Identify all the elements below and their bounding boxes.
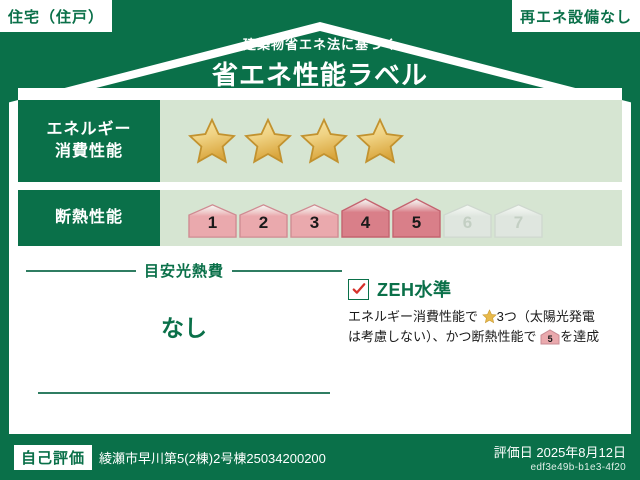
footer-right: 評価日 2025年8月12日 edf3e49b-b1e3-4f20: [494, 442, 626, 473]
energy-cost-heading-text: 目安光熱費: [144, 260, 224, 281]
star-icon: [300, 117, 348, 165]
star-icon: [244, 117, 292, 165]
insulation-grade-scale: 1234567: [188, 198, 543, 238]
energy-cost-heading: 目安光熱費: [26, 260, 342, 281]
energy-performance-label: 住宅（住戸） 再エネ設備なし 建築物省エネ法に基づく 省エネ性能ラベル エネルギ…: [0, 0, 640, 480]
star-icon: [356, 117, 404, 165]
insulation-grade-3: 3: [290, 204, 339, 238]
evaluation-hash: edf3e49b-b1e3-4f20: [494, 462, 626, 473]
zeh-title: ZEH水準: [377, 276, 452, 302]
zeh-description: エネルギー消費性能で 3つ（太陽光発電 は考慮しない）、かつ断熱性能で 5 を達…: [348, 307, 614, 347]
insulation-badge-inline: 5: [540, 329, 560, 345]
tag-renewable-energy: 再エネ設備なし: [512, 0, 640, 32]
zeh-desc-stars: 3つ（太陽光発電: [497, 309, 595, 324]
lower-section: 目安光熱費 なし ZEH水準 エネルギー消費性能で: [18, 256, 622, 425]
heading-title: 省エネ性能ラベル: [0, 55, 640, 92]
tag-building-type: 住宅（住戸）: [0, 0, 112, 32]
label-footer: 自己評価 綾瀬市早川第5(2棟)2号棟25034200200 評価日 2025年…: [0, 434, 640, 480]
row-insulation-label-line1: 断熱性能: [55, 207, 123, 229]
label-heading: 建築物省エネ法に基づく 省エネ性能ラベル: [0, 34, 640, 92]
zeh-desc-part3: を達成: [560, 329, 599, 344]
row-energy-label-line2: 消費性能: [55, 141, 123, 163]
insulation-grade-7: 7: [494, 204, 543, 238]
property-address: 綾瀬市早川第5(2棟)2号棟25034200200: [99, 448, 326, 467]
insulation-grade-1: 1: [188, 204, 237, 238]
insulation-grade-6: 6: [443, 204, 492, 238]
star-icon-inline: [482, 309, 497, 324]
rule-left: [26, 270, 136, 272]
zeh-checkbox[interactable]: [348, 279, 369, 300]
insulation-grade-4: 4: [341, 198, 390, 238]
insulation-grade-5: 5: [392, 198, 441, 238]
evaluation-date: 評価日 2025年8月12日: [494, 442, 626, 461]
row-insulation-body: 1234567: [160, 190, 622, 246]
self-evaluation-badge: 自己評価: [14, 445, 92, 470]
zeh-block: ZEH水準 エネルギー消費性能で 3つ（太陽光発電 は考慮しない）、かつ断熱性能…: [348, 276, 614, 347]
row-energy-performance: エネルギー 消費性能: [18, 100, 622, 182]
insulation-badge-value: 5: [540, 334, 560, 345]
zeh-desc-part1: エネルギー消費性能で: [348, 309, 478, 324]
label-content: エネルギー 消費性能 断熱性能 1234567 目安光熱費: [18, 88, 622, 425]
row-energy-label: エネルギー 消費性能: [18, 100, 160, 182]
row-insulation-label: 断熱性能: [18, 190, 160, 246]
star-icon: [188, 117, 236, 165]
row-energy-body: [160, 100, 622, 182]
insulation-grade-2: 2: [239, 204, 288, 238]
energy-cost-value: なし: [26, 309, 342, 343]
row-energy-label-line1: エネルギー: [46, 119, 131, 141]
zeh-desc-part2: は考慮しない）、かつ断熱性能で: [348, 329, 537, 344]
footer-left: 自己評価 綾瀬市早川第5(2棟)2号棟25034200200: [14, 445, 326, 470]
zeh-heading: ZEH水準: [348, 276, 614, 302]
star-rating: [188, 117, 404, 165]
heading-subtitle: 建築物省エネ法に基づく: [0, 34, 640, 53]
row-insulation-performance: 断熱性能 1234567: [18, 190, 622, 246]
energy-cost-bottom-rule: [38, 392, 330, 394]
rule-right: [232, 270, 342, 272]
energy-cost-block: 目安光熱費 なし: [26, 256, 342, 343]
